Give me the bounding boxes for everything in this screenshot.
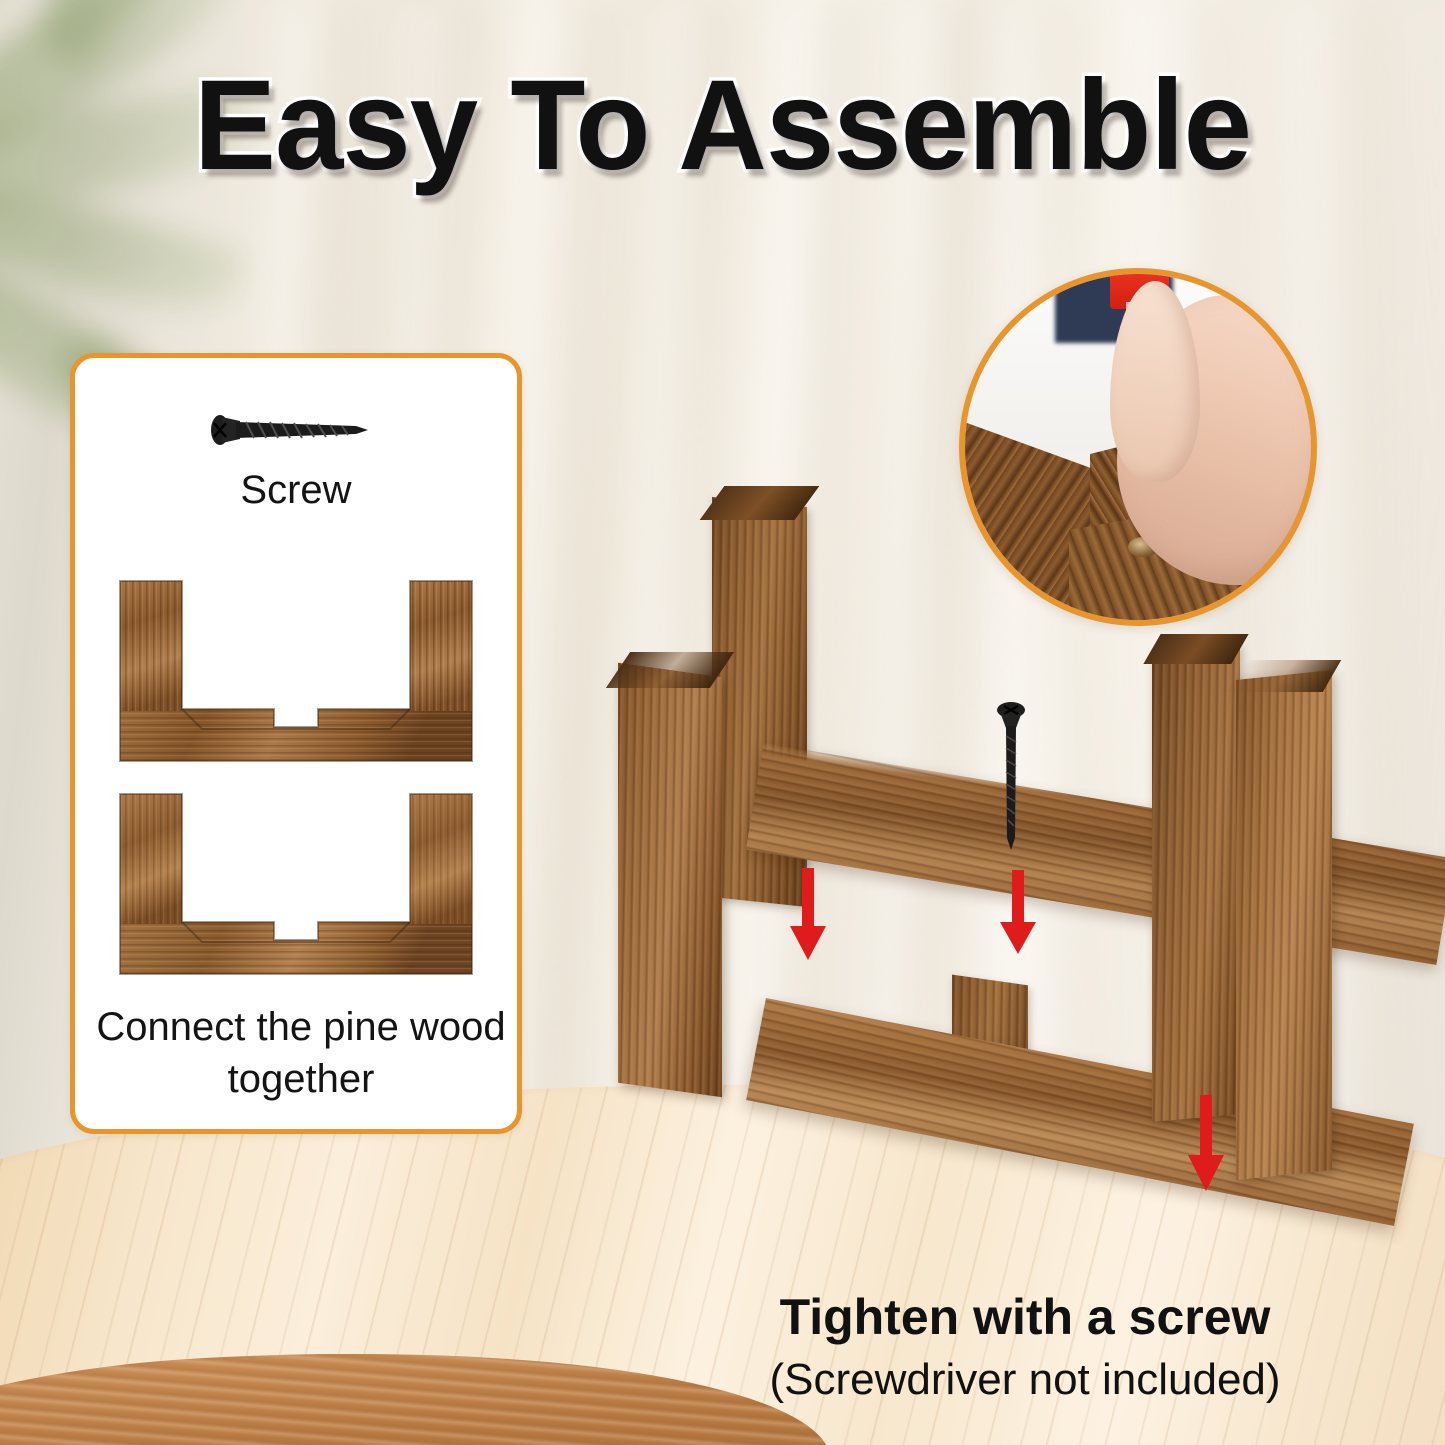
- closeup-inset-photo: [959, 268, 1317, 626]
- u-bracket-top: [118, 577, 474, 763]
- wood-rail-top: [746, 743, 1445, 965]
- u-bracket-bottom: [118, 790, 474, 976]
- wood-post-back-right-cap: [1143, 634, 1248, 664]
- wood-post-back-right: [1152, 644, 1240, 1122]
- wood-post-front-right-cap: [1227, 660, 1341, 692]
- arrow-left-icon: [788, 868, 828, 960]
- grain: [618, 663, 722, 1098]
- arrow-center-icon: [998, 870, 1038, 954]
- main-caption: Tighten with a screw: [640, 1288, 1410, 1346]
- sub-caption: (Screwdriver not included): [640, 1355, 1410, 1405]
- page-title: Easy To Assemble: [29, 62, 1416, 190]
- grain: [1236, 670, 1332, 1180]
- screw-label: Screw: [75, 468, 517, 513]
- wood-post-front-right: [1236, 670, 1332, 1180]
- arrow-right-icon: [1186, 1095, 1226, 1191]
- grain: [1152, 644, 1240, 1122]
- screw-icon: [206, 413, 374, 447]
- wood-post-front-left: [618, 663, 722, 1098]
- card-caption: Connect the pine wood together: [89, 1001, 513, 1105]
- grain: [746, 743, 1445, 965]
- floating-screw-icon: [994, 698, 1028, 858]
